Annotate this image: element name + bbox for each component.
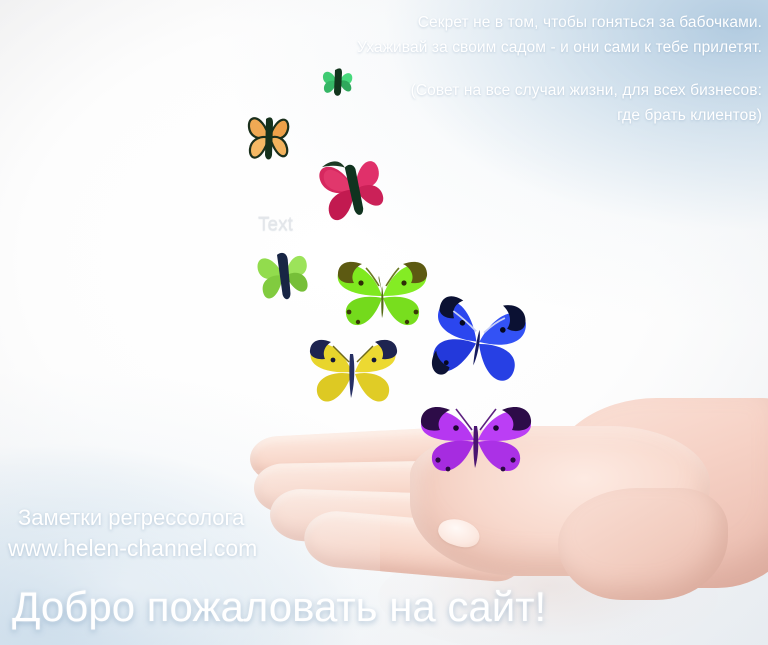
text-watermark: Text <box>258 214 293 236</box>
butterfly-orange <box>243 105 295 171</box>
butterfly-pale-green <box>252 244 318 308</box>
butterfly-lime <box>332 252 432 338</box>
brand-url[interactable]: www.helen-channel.com <box>0 533 330 563</box>
advice-line-2: где брать клиентов) <box>292 103 762 128</box>
butterfly-blue <box>426 288 532 400</box>
advice-line-1: (Совет на все случаи жизни, для всех биз… <box>292 78 762 103</box>
advice-text: (Совет на все случаи жизни, для всех биз… <box>292 78 762 128</box>
butterfly-purple <box>412 398 540 486</box>
welcome-headline: Добро пожаловать на сайт! <box>12 582 546 632</box>
banner-image: Секрет не в том, чтобы гоняться за бабоч… <box>0 0 768 645</box>
butterfly-yellow <box>303 332 403 416</box>
brand-title: Заметки регрессолога <box>0 503 330 533</box>
thumb <box>558 488 728 600</box>
quote-line-2: Ухаживай за своим садом - и они сами к т… <box>242 35 762 60</box>
quote-text: Секрет не в том, чтобы гоняться за бабоч… <box>242 10 762 60</box>
butterfly-crimson <box>314 148 394 228</box>
quote-line-1: Секрет не в том, чтобы гоняться за бабоч… <box>242 10 762 35</box>
brand-block: Заметки регрессолога www.helen-channel.c… <box>0 503 330 563</box>
